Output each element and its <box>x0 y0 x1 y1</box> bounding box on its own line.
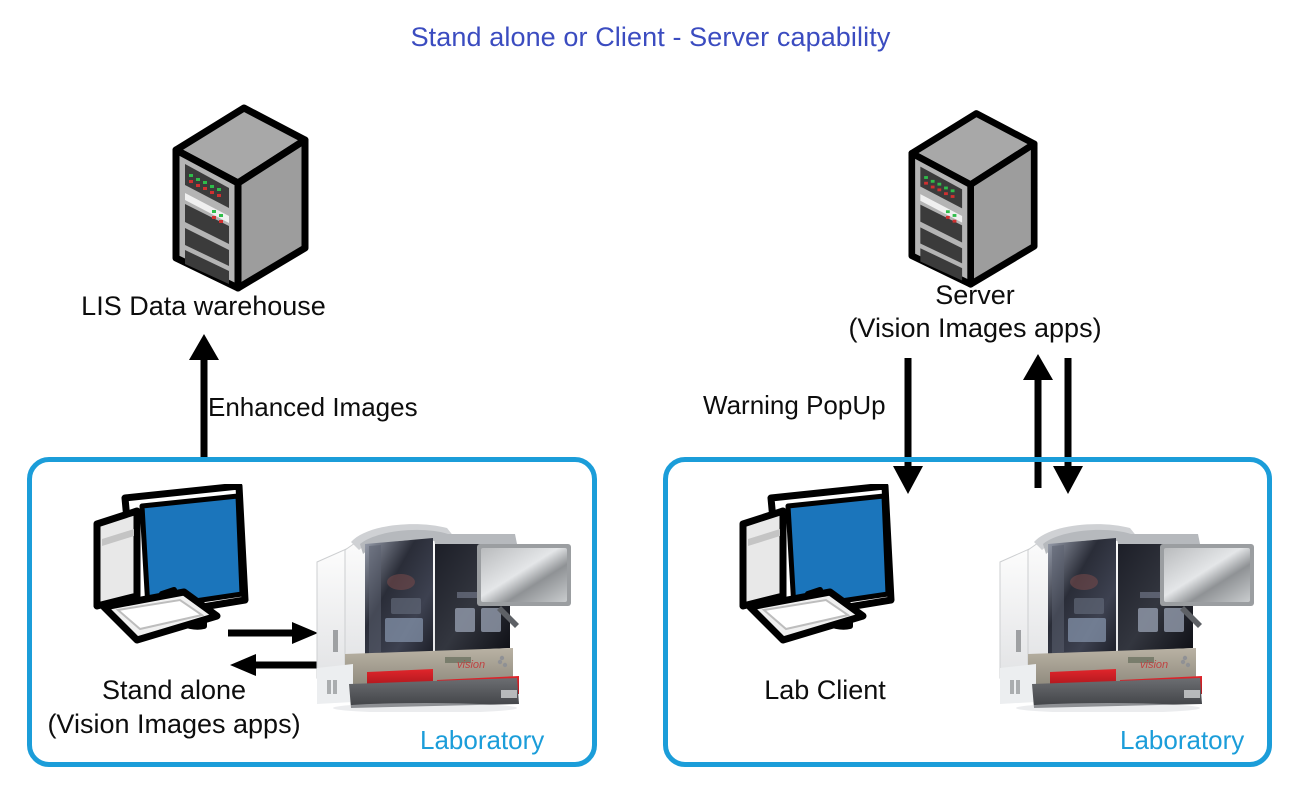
desktop-computer-icon-labclient <box>738 484 913 654</box>
lab-client-label: Lab Client <box>690 675 960 707</box>
server-tower-icon-lis <box>168 98 313 293</box>
server-label-line1: Server <box>810 280 1140 312</box>
laboratory-caption-left: Laboratory <box>420 725 544 756</box>
diagram-canvas: Stand alone or Client - Server capabilit… <box>0 0 1301 797</box>
svg-text:vision: vision <box>457 659 485 671</box>
lab-analyzer-icon-left: vision <box>305 512 585 712</box>
svg-text:vision: vision <box>1140 659 1168 671</box>
server-tower-icon-server <box>903 104 1043 289</box>
server-label-line2: (Vision Images apps) <box>810 313 1140 345</box>
lab-analyzer-icon-right: vision <box>988 512 1268 712</box>
lis-data-warehouse-label: LIS Data warehouse <box>0 291 407 323</box>
enhanced-images-label: Enhanced Images <box>208 392 418 423</box>
page-title: Stand alone or Client - Server capabilit… <box>0 22 1301 53</box>
warning-popup-label: Warning PopUp <box>703 390 886 421</box>
laboratory-caption-right: Laboratory <box>1120 725 1244 756</box>
standalone-label-line2: (Vision Images apps) <box>14 709 334 741</box>
